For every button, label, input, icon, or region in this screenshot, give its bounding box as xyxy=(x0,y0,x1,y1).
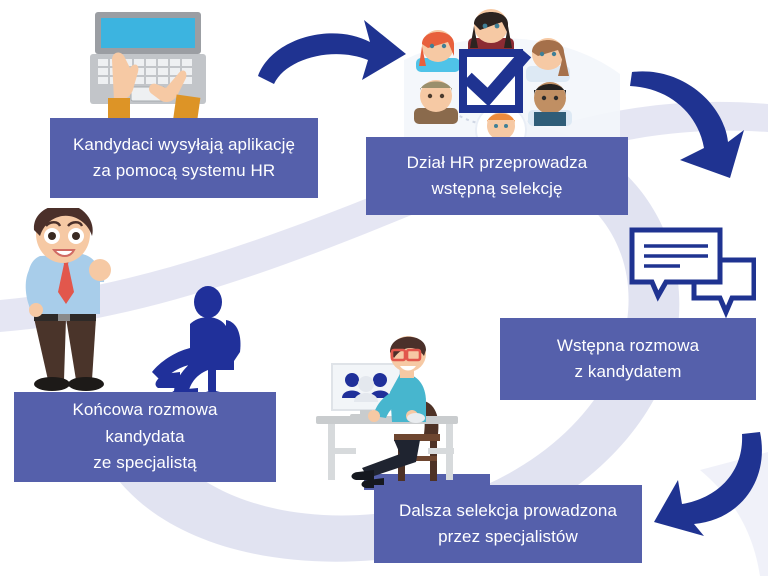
step-4-line-2: przez specjalistów xyxy=(438,524,578,550)
avatar-upper-right xyxy=(526,38,570,82)
step-5-line-1: Końcowa rozmowa xyxy=(72,397,217,423)
avatar-top xyxy=(468,9,514,54)
candidate-avatars-illustration xyxy=(406,0,596,150)
step-4-line-1: Dalsza selekcja prowadzona xyxy=(399,498,617,524)
step-5-line-3: ze specjalistą xyxy=(93,450,196,476)
step-2-line-2: wstępną selekcję xyxy=(431,176,562,202)
seated-silhouette-illustration xyxy=(134,286,270,408)
step-box-2[interactable]: Dział HR przeprowadza wstępną selekcję xyxy=(366,137,628,215)
step-3-line-2: z kandydatem xyxy=(574,359,681,385)
step-box-4[interactable]: Dalsza selekcja prowadzona przez specjal… xyxy=(374,485,642,563)
step-2-line-1: Dział HR przeprowadza xyxy=(407,150,588,176)
speech-bubbles-illustration xyxy=(628,226,756,318)
step-box-1[interactable]: Kandydaci wysyłają aplikację za pomocą s… xyxy=(50,118,318,198)
step-5-line-2: kandydata xyxy=(105,424,184,450)
infographic-canvas: Kandydaci wysyłają aplikację za pomocą s… xyxy=(0,0,768,576)
arrow-step1-to-step2 xyxy=(252,12,412,98)
step-1-line-2: za pomocą systemu HR xyxy=(93,158,275,184)
arrow-step2-to-step3 xyxy=(624,56,768,182)
avatar-lower-left xyxy=(414,80,458,124)
laptop-illustration xyxy=(82,8,214,132)
step-3-line-1: Wstępna rozmowa xyxy=(557,333,699,359)
arrow-step3-to-step4 xyxy=(636,424,768,536)
waving-man-illustration xyxy=(4,208,124,404)
avatar-lower-right xyxy=(528,82,572,126)
avatar-upper-left xyxy=(416,30,460,72)
checkbox-checked-icon xyxy=(463,53,522,109)
step-1-line-1: Kandydaci wysyłają aplikację xyxy=(73,132,295,158)
step-box-3[interactable]: Wstępna rozmowa z kandydatem xyxy=(500,318,756,400)
step-box-5[interactable]: Końcowa rozmowa kandydata ze specjalistą xyxy=(14,392,276,482)
desk-worker-illustration xyxy=(312,322,490,490)
